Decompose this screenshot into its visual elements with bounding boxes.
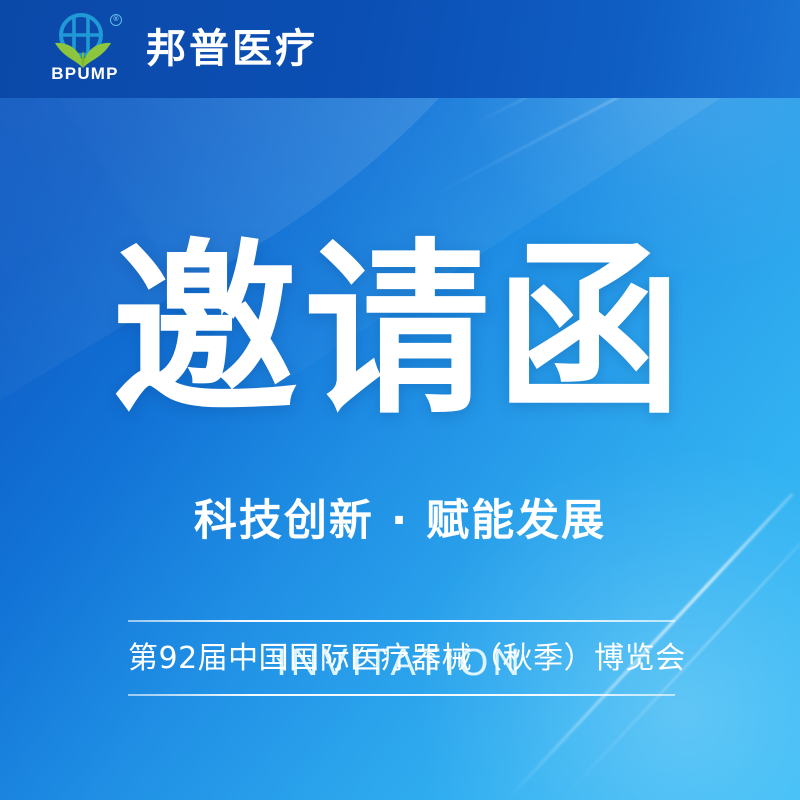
event-name: 第92届中国国际医疗器械（秋季）博览会 (128, 622, 675, 694)
divider-bottom (128, 694, 675, 696)
bpump-wordmark: BPUMP (46, 64, 124, 84)
brand-name-cn: 邦普医疗 (146, 29, 318, 69)
page-title: 邀请函 (0, 238, 800, 424)
invitation-poster: ® BPUMP 邦普医疗 邀请函 科技创新 · 赋能发展 INVITATION … (0, 0, 800, 800)
bpump-logo: ® BPUMP (46, 12, 124, 86)
poster-subtitle: 科技创新 · 赋能发展 (0, 500, 800, 543)
brand-header: ® BPUMP 邦普医疗 (0, 0, 800, 98)
registered-trademark-icon: ® (110, 14, 122, 26)
event-footer: 第92届中国国际医疗器械（秋季）博览会 (128, 620, 675, 696)
